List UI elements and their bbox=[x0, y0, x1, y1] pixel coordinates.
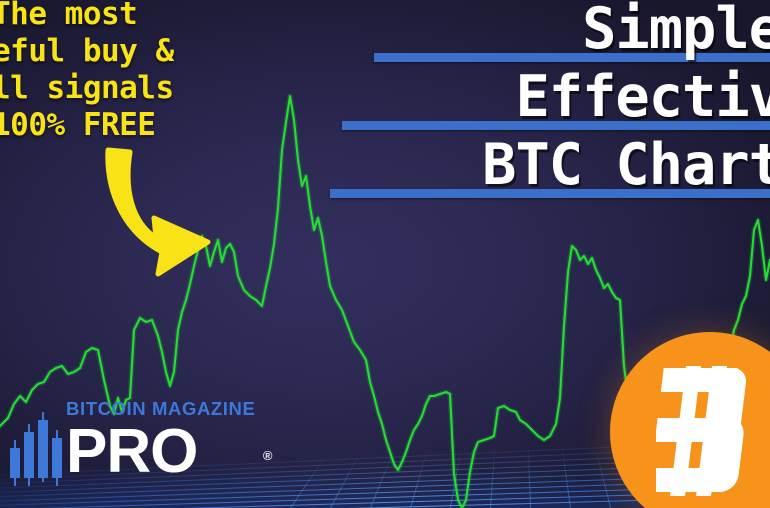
registered-mark-icon: ® bbox=[263, 426, 272, 486]
headline-block: Simple Effectiv BTC Chart bbox=[312, 0, 770, 202]
headline-line-3: BTC Chart bbox=[312, 134, 770, 198]
bitcoin-symbol-icon bbox=[656, 366, 766, 496]
headline-line-2-text: Effectiv bbox=[312, 66, 770, 128]
headline-line-3-text: BTC Chart bbox=[312, 134, 770, 196]
headline-line-1-text: Simple bbox=[312, 0, 770, 60]
bitcoin-magazine-pro-logo: BITCOIN MAGAZINE PRO ® bbox=[8, 398, 278, 494]
candlestick-bars-icon bbox=[8, 404, 64, 488]
promo-text-block: The most eful buy & ll signals 100% FREE bbox=[0, 0, 174, 144]
logo-bottom-text-wrap: PRO ® bbox=[66, 422, 255, 482]
curved-down-right-arrow-icon bbox=[96, 146, 246, 282]
promo-line-2: eful buy & bbox=[0, 33, 174, 70]
promo-line-1: The most bbox=[0, 0, 174, 33]
promo-line-4: 100% FREE bbox=[0, 107, 174, 144]
headline-line-1: Simple bbox=[312, 0, 770, 62]
headline-line-2: Effectiv bbox=[312, 66, 770, 130]
logo-wordmark: BITCOIN MAGAZINE PRO ® bbox=[66, 398, 255, 482]
promo-line-3: ll signals bbox=[0, 70, 174, 107]
logo-bottom-text: PRO bbox=[66, 417, 197, 486]
thumbnail-canvas: The most eful buy & ll signals 100% FREE… bbox=[0, 0, 770, 508]
